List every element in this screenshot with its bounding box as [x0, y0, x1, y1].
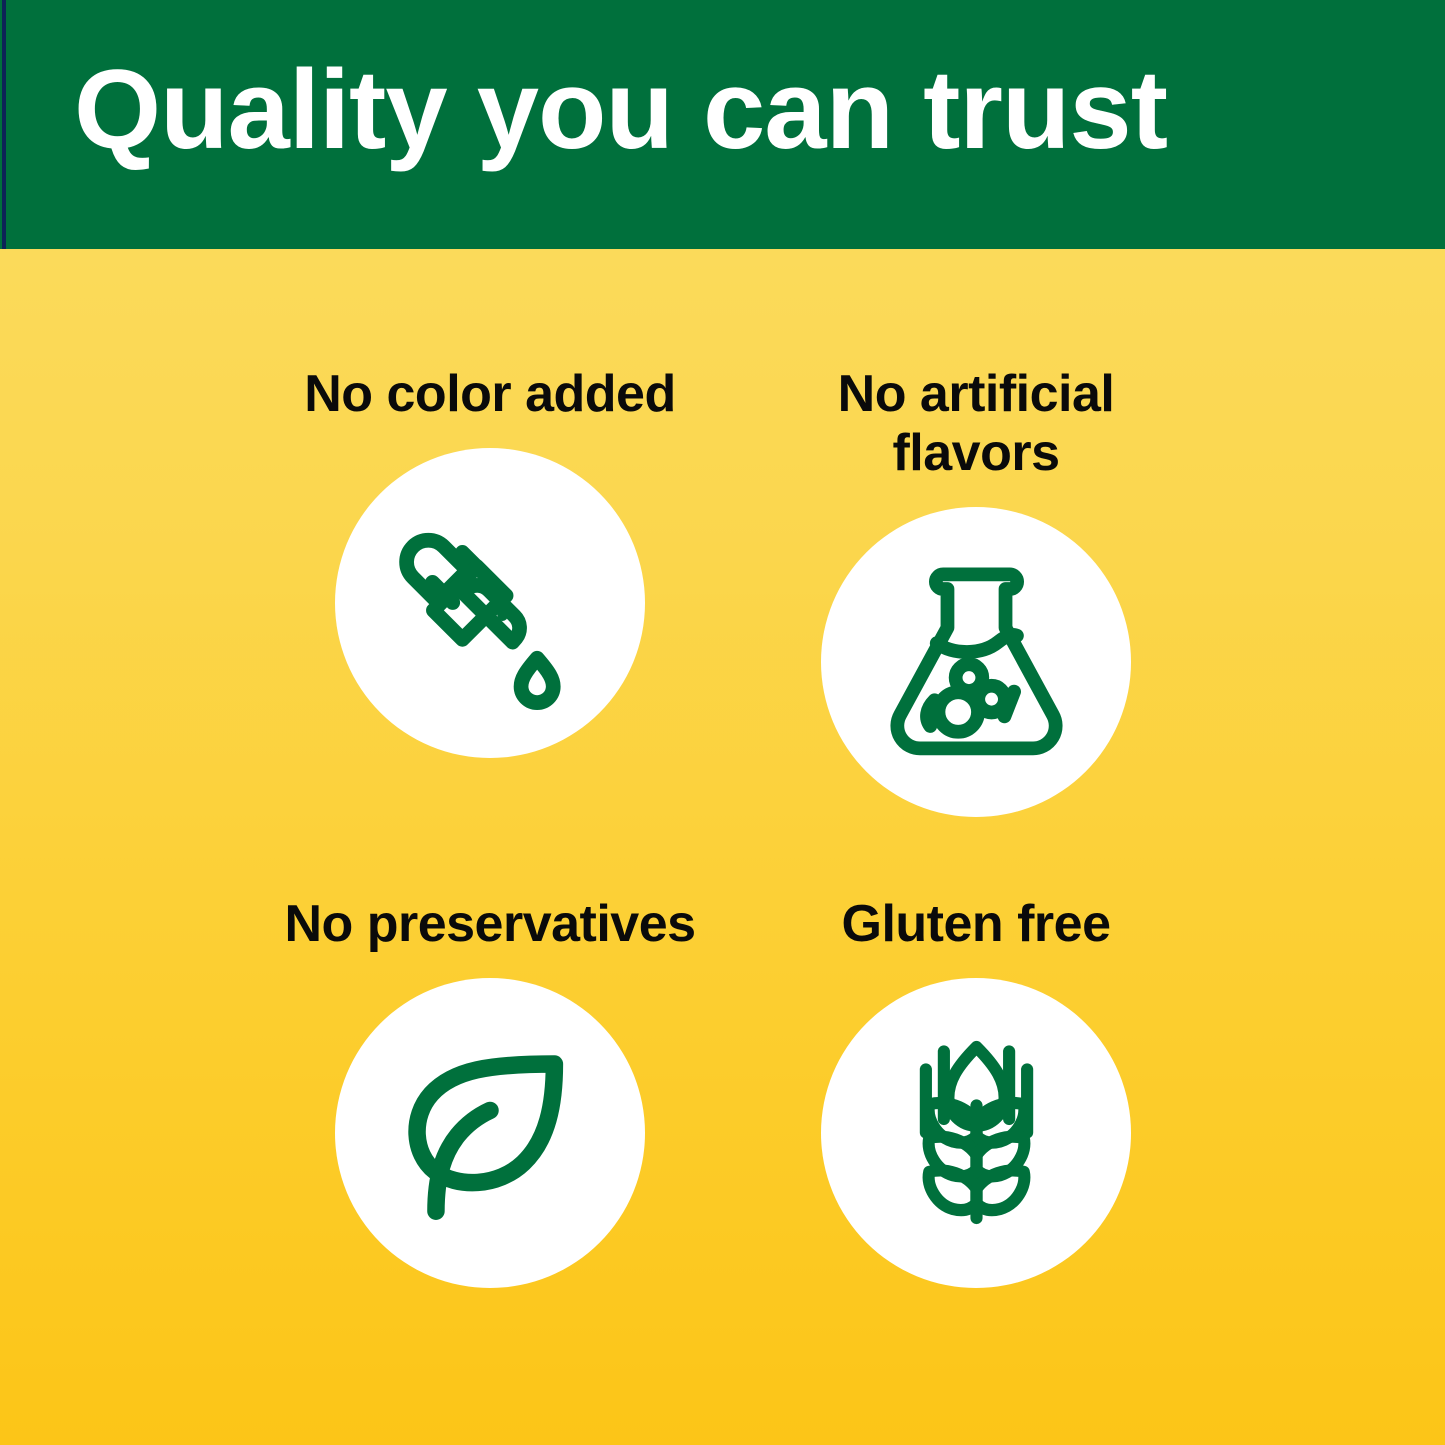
leaf-icon	[375, 1018, 605, 1248]
icon-disc	[335, 978, 645, 1288]
feature-label: No artificial flavors	[766, 365, 1186, 483]
feature-label: No color added	[304, 365, 675, 424]
feature-no-color-added: No color added	[280, 365, 700, 758]
banner-left-stripe	[2, 0, 6, 249]
quality-claims-panel: Quality you can trust No color added	[0, 0, 1445, 1445]
icon-disc	[821, 507, 1131, 817]
feature-gluten-free: Gluten free	[766, 895, 1186, 1288]
header-banner: Quality you can trust	[0, 0, 1445, 249]
icon-disc	[335, 448, 645, 758]
icon-disc	[821, 978, 1131, 1288]
flask-icon	[869, 554, 1084, 769]
feature-no-preservatives: No preservatives	[280, 895, 700, 1288]
dropper-icon	[375, 488, 605, 718]
page-title: Quality you can trust	[74, 54, 1414, 166]
feature-label: Gluten free	[842, 895, 1111, 954]
feature-label: No preservatives	[284, 895, 695, 954]
feature-grid: No color added	[0, 249, 1445, 1445]
wheat-icon	[864, 1020, 1089, 1245]
feature-no-artificial-flavors: No artificial flavors	[766, 365, 1186, 817]
